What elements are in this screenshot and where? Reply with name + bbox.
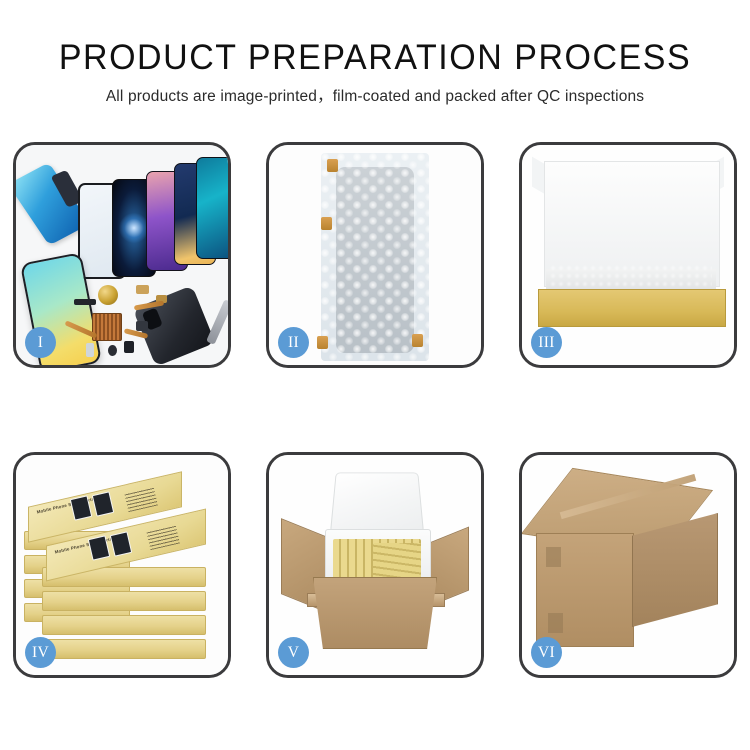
small-part-shape bbox=[136, 285, 149, 294]
step-badge-4: IV bbox=[25, 637, 56, 668]
step-badge-3: III bbox=[531, 327, 562, 358]
page-subtitle: All products are image-printed，film-coat… bbox=[0, 79, 750, 107]
small-part-shape bbox=[136, 321, 148, 331]
small-part-shape bbox=[86, 343, 94, 357]
repair-tweezers-shape bbox=[206, 299, 228, 345]
process-step-panel-4[interactable]: Mobile Phone Spare Parts Mobile Phone Sp… bbox=[13, 452, 231, 678]
process-step-panel-2[interactable]: II bbox=[266, 142, 484, 368]
phone-screen-teal-shape bbox=[196, 157, 228, 259]
carton-body-shape bbox=[313, 577, 437, 649]
wrapped-units-stack-shape bbox=[550, 265, 712, 291]
process-step-grid: I II III bbox=[13, 142, 737, 678]
tape-tab-shape bbox=[321, 217, 332, 230]
bubble-texture bbox=[321, 153, 429, 361]
tape-tab-shape bbox=[412, 334, 423, 347]
tape-tab-shape bbox=[317, 336, 328, 349]
foam-box-lid-shape bbox=[330, 472, 424, 533]
page-title: PRODUCT PREPARATION PROCESS bbox=[11, 0, 739, 79]
step-badge-1: I bbox=[25, 327, 56, 358]
process-step-panel-1[interactable]: I bbox=[13, 142, 231, 368]
retail-box-layer bbox=[42, 639, 206, 659]
process-step-panel-6[interactable]: VI bbox=[519, 452, 737, 678]
carton-tape-mark-shape bbox=[548, 613, 563, 633]
small-part-shape bbox=[124, 341, 134, 353]
small-part-shape bbox=[74, 299, 96, 305]
tape-tab-shape bbox=[327, 159, 338, 172]
retail-box-layer bbox=[42, 591, 206, 611]
bubble-wrap-sheet-shape bbox=[321, 153, 429, 361]
wireless-coil-shape bbox=[98, 285, 118, 305]
process-step-panel-5[interactable]: V bbox=[266, 452, 484, 678]
step-badge-6: VI bbox=[531, 637, 562, 668]
step-badge-5: V bbox=[278, 637, 309, 668]
retail-box-layer bbox=[42, 615, 206, 635]
step-badge-2: II bbox=[278, 327, 309, 358]
process-step-panel-3[interactable]: III bbox=[519, 142, 737, 368]
page-header: PRODUCT PREPARATION PROCESS All products… bbox=[0, 0, 750, 130]
carton-tape-mark-shape bbox=[546, 547, 561, 567]
small-part-shape bbox=[108, 345, 117, 356]
box-front-panel-shape bbox=[538, 289, 726, 327]
ic-chip-shape bbox=[92, 313, 122, 341]
